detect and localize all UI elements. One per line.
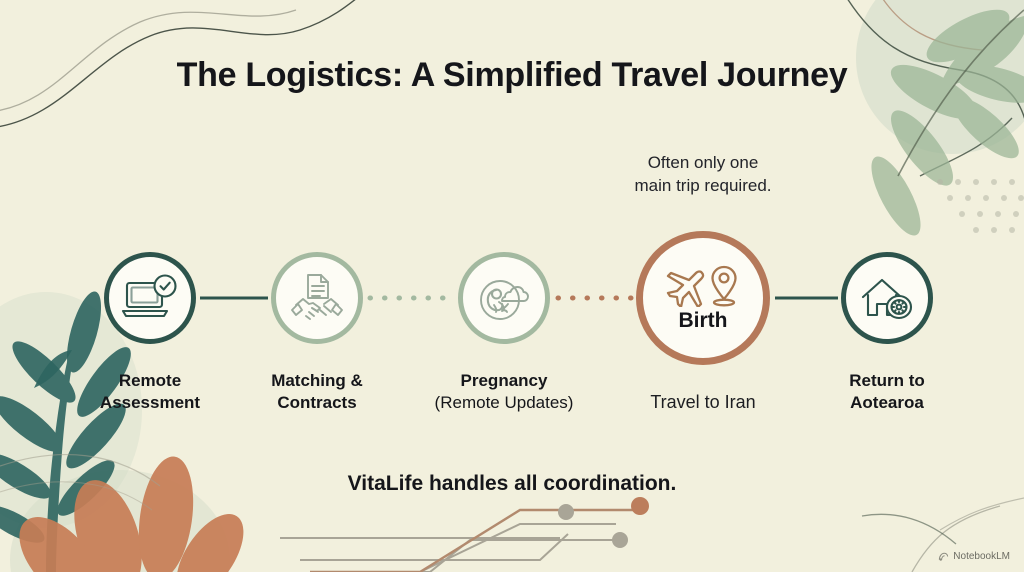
notebooklm-watermark: NotebookLM: [938, 551, 1010, 562]
page-title: The Logistics: A Simplified Travel Journ…: [0, 56, 1024, 95]
slide-canvas: The Logistics: A Simplified Travel Journ…: [0, 0, 1024, 572]
notebooklm-logo-icon: [938, 551, 949, 562]
footer-caption: VitaLife handles all coordination.: [0, 472, 1024, 496]
watermark-text: NotebookLM: [953, 551, 1010, 562]
